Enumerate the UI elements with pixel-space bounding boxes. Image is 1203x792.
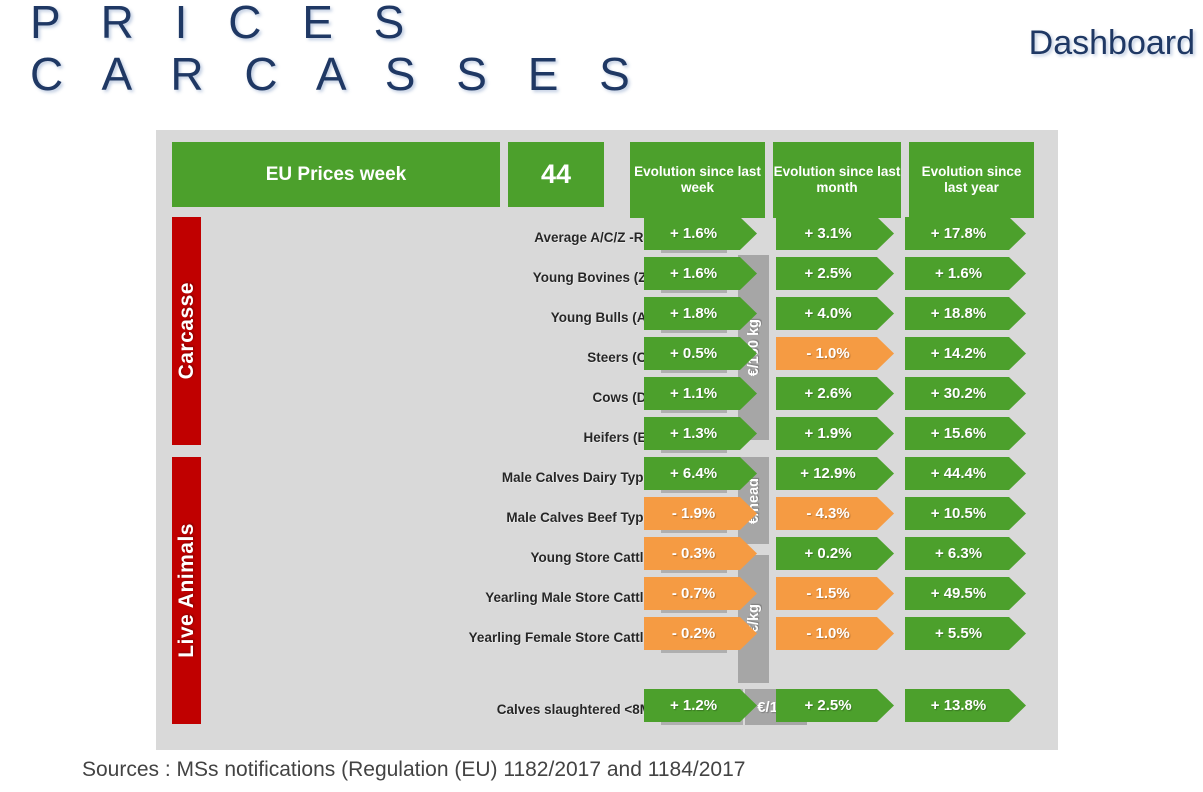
row-evolution-year: + 17.8% xyxy=(905,217,1026,250)
row-evolution-month: - 1.0% xyxy=(776,617,894,650)
row-evolution-week: + 1.3% xyxy=(644,417,757,450)
header-evolution-last-week: Evolution since last week xyxy=(630,142,765,218)
row-evolution-month: - 1.5% xyxy=(776,577,894,610)
table-row: Male Calves Beef Type 206.2 - 1.9% - 4.3… xyxy=(156,497,1058,537)
row-evolution-week: + 0.5% xyxy=(644,337,757,370)
row-evolution-month: + 1.9% xyxy=(776,417,894,450)
table-row: Young Store Cattle 2.71 - 0.3% + 0.2% + … xyxy=(156,537,1058,577)
row-label: Young Bulls (A) xyxy=(326,297,651,337)
row-evolution-year: + 6.3% xyxy=(905,537,1026,570)
row-evolution-month: + 4.0% xyxy=(776,297,894,330)
sources-note: Sources : MSs notifications (Regulation … xyxy=(82,758,745,782)
row-label: Average A/C/Z -R3 xyxy=(326,217,651,257)
header-evolution-last-month: Evolution since last month xyxy=(773,142,901,218)
row-evolution-week: + 1.8% xyxy=(644,297,757,330)
table-row: Heifers (E) 424.5 + 1.3% + 1.9% + 15.6% xyxy=(156,417,1058,457)
row-label: Heifers (E) xyxy=(326,417,651,457)
row-evolution-year: + 15.6% xyxy=(905,417,1026,450)
row-evolution-month: + 3.1% xyxy=(776,217,894,250)
row-label: Calves slaughtered <8M xyxy=(326,689,651,729)
row-evolution-month: + 0.2% xyxy=(776,537,894,570)
row-evolution-month: + 2.6% xyxy=(776,377,894,410)
row-label: Young Store Cattle xyxy=(326,537,651,577)
table-row: Average A/C/Z -R3 416.8 + 1.6% + 3.1% + … xyxy=(156,217,1058,257)
table-row: Young Bulls (A) 419.8 + 1.8% + 4.0% + 18… xyxy=(156,297,1058,337)
row-label: Male Calves Beef Type xyxy=(326,497,651,537)
row-label: Steers (C) xyxy=(326,337,651,377)
row-evolution-week: + 1.2% xyxy=(644,689,757,722)
table-row: Male Calves Dairy Type 93.66 + 6.4% + 12… xyxy=(156,457,1058,497)
prices-table-panel: EU Prices week 44 Evolution since last w… xyxy=(156,130,1058,750)
table-row: Calves slaughtered <8M 549.9 + 1.2% + 2.… xyxy=(156,689,1058,729)
table-row: Cows (D) 345.3 + 1.1% + 2.6% + 30.2% xyxy=(156,377,1058,417)
row-evolution-year: + 14.2% xyxy=(905,337,1026,370)
page-title-line1: P R I C E S xyxy=(30,0,644,48)
row-evolution-year: + 30.2% xyxy=(905,377,1026,410)
row-evolution-year: + 10.5% xyxy=(905,497,1026,530)
row-evolution-week: - 1.9% xyxy=(644,497,757,530)
page-title-line2: C A R C A S S E S xyxy=(30,48,644,100)
row-evolution-month: + 2.5% xyxy=(776,689,894,722)
header-evolution-last-year: Evolution since last year xyxy=(909,142,1034,218)
row-evolution-week: - 0.3% xyxy=(644,537,757,570)
row-evolution-week: + 6.4% xyxy=(644,457,757,490)
row-evolution-year: + 44.4% xyxy=(905,457,1026,490)
row-evolution-year: + 5.5% xyxy=(905,617,1026,650)
header-week-number: 44 xyxy=(508,142,604,207)
row-evolution-year: + 18.8% xyxy=(905,297,1026,330)
row-label: Yearling Male Store Cattle xyxy=(326,577,651,617)
row-evolution-week: + 1.6% xyxy=(644,257,757,290)
row-evolution-week: - 0.2% xyxy=(644,617,757,650)
header-eu-prices-week: EU Prices week xyxy=(172,142,500,207)
row-evolution-year: + 13.8% xyxy=(905,689,1026,722)
row-evolution-month: - 1.0% xyxy=(776,337,894,370)
table-row: Young Bovines (Z) 406.1 + 1.6% + 2.5% + … xyxy=(156,257,1058,297)
row-label: Yearling Female Store Cattle xyxy=(326,617,651,657)
row-evolution-week: - 0.7% xyxy=(644,577,757,610)
row-label: Male Calves Dairy Type xyxy=(326,457,651,497)
row-evolution-year: + 49.5% xyxy=(905,577,1026,610)
row-label: Young Bovines (Z) xyxy=(326,257,651,297)
table-row: Yearling Female Store Cattle 2.54 - 0.2%… xyxy=(156,617,1058,657)
table-row: Steers (C) 413.6 + 0.5% - 1.0% + 14.2% xyxy=(156,337,1058,377)
page-title: P R I C E S C A R C A S S E S xyxy=(30,0,644,100)
dashboard-label: Dashboard xyxy=(1029,24,1195,63)
row-evolution-month: + 2.5% xyxy=(776,257,894,290)
row-evolution-week: + 1.6% xyxy=(644,217,757,250)
row-evolution-month: - 4.3% xyxy=(776,497,894,530)
table-row: Yearling Male Store Cattle 3.27 - 0.7% -… xyxy=(156,577,1058,617)
row-evolution-week: + 1.1% xyxy=(644,377,757,410)
row-evolution-month: + 12.9% xyxy=(776,457,894,490)
row-evolution-year: + 1.6% xyxy=(905,257,1026,290)
row-label: Cows (D) xyxy=(326,377,651,417)
